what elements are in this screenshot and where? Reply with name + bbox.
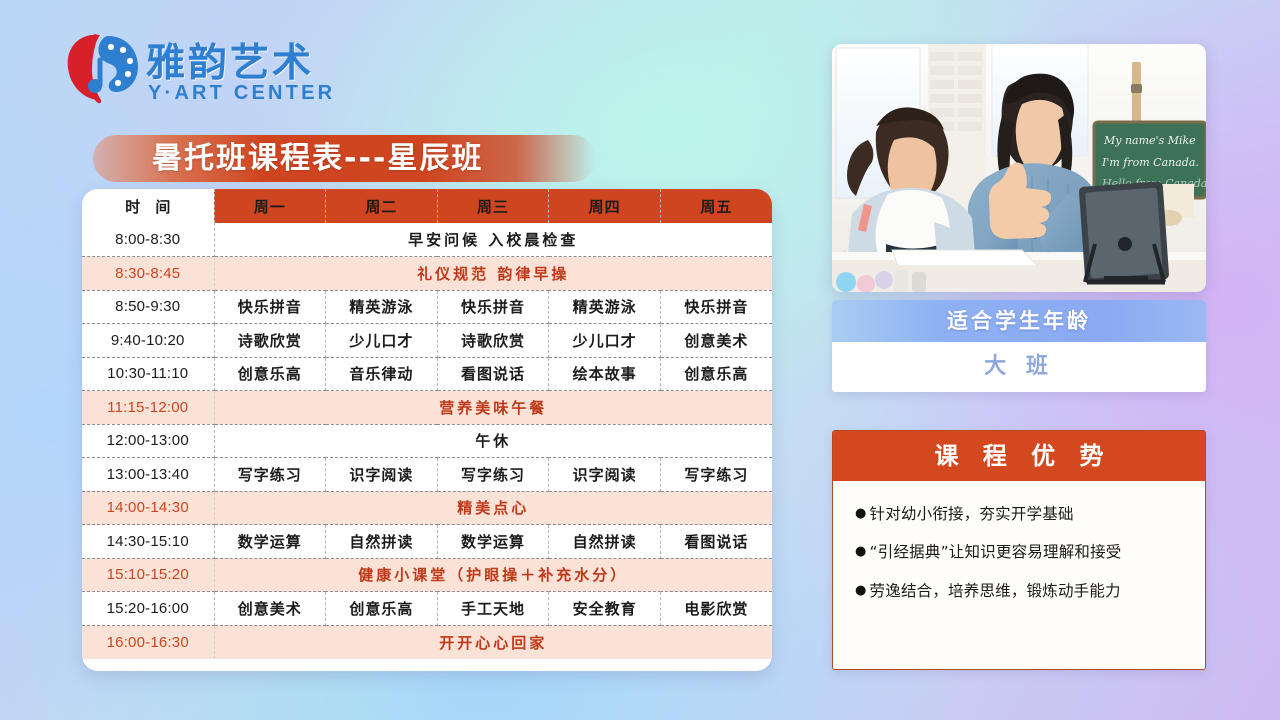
schedule-merged-cell: 精美点心 [214, 491, 772, 525]
schedule-time-cell: 8:30-8:45 [82, 257, 214, 291]
column-header-monday: 周一 [214, 189, 326, 223]
schedule-merged-cell: 礼仪规范 韵律早操 [214, 257, 772, 291]
table-row: 8:00-8:30早安问候 入校晨检查 [82, 223, 772, 257]
schedule-time-cell: 8:50-9:30 [82, 290, 214, 324]
column-header-tuesday: 周二 [326, 189, 438, 223]
schedule-subject-cell: 写字练习 [437, 458, 549, 492]
schedule-merged-cell: 开开心心回家 [214, 625, 772, 659]
age-panel: 适合学生年龄 大 班 [832, 300, 1206, 392]
schedule-table: 时 间 周一 周二 周三 周四 周五 8:00-8:30早安问候 入校晨检查8:… [82, 189, 772, 659]
schedule-subject-cell: 自然拼读 [326, 525, 438, 559]
schedule-merged-cell: 营养美味午餐 [214, 391, 772, 425]
schedule-subject-cell: 创意乐高 [214, 357, 326, 391]
svg-text:My name's Mike: My name's Mike [1103, 134, 1196, 147]
brand-name-cn: 雅韵艺术 [146, 32, 314, 88]
advantages-list: ●针对幼小衔接，夯实开学基础●“引经据典”让知识更容易理解和接受●劳逸结合，培养… [833, 481, 1205, 601]
schedule-time-cell: 12:00-13:00 [82, 424, 214, 458]
schedule-subject-cell: 看图说话 [437, 357, 549, 391]
schedule-subject-cell: 快乐拼音 [660, 290, 772, 324]
bullet-icon: ● [855, 582, 867, 601]
list-item: ●“引经据典”让知识更容易理解和接受 [855, 543, 1185, 562]
schedule-subject-cell: 自然拼读 [549, 525, 661, 559]
list-item: ●劳逸结合，培养思维，锻炼动手能力 [855, 582, 1185, 601]
table-row: 11:15-12:00营养美味午餐 [82, 391, 772, 425]
column-header-wednesday: 周三 [437, 189, 549, 223]
brand-name-en: Y·ART CENTER [148, 82, 335, 105]
bullet-icon: ● [855, 543, 867, 562]
schedule-subject-cell: 手工天地 [437, 592, 549, 626]
svg-text:I'm from Canada.: I'm from Canada. [1101, 156, 1199, 169]
schedule-time-cell: 14:30-15:10 [82, 525, 214, 559]
list-item: ●针对幼小衔接，夯实开学基础 [855, 505, 1185, 524]
advantage-text: 劳逸结合，培养思维，锻炼动手能力 [870, 582, 1185, 601]
column-header-friday: 周五 [660, 189, 772, 223]
schedule-subject-cell: 看图说话 [660, 525, 772, 559]
table-row: 8:30-8:45礼仪规范 韵律早操 [82, 257, 772, 291]
schedule-subject-cell: 电影欣赏 [660, 592, 772, 626]
schedule-time-cell: 10:30-11:10 [82, 357, 214, 391]
table-row: 12:00-13:00午休 [82, 424, 772, 458]
age-panel-value: 大 班 [832, 342, 1206, 392]
classroom-teacher-student-photo: My name's Mike I'm from Canada. Hello fr… [832, 44, 1206, 292]
schedule-subject-cell: 少儿口才 [326, 324, 438, 358]
schedule-subject-cell: 创意美术 [660, 324, 772, 358]
table-row: 15:20-16:00创意美术创意乐高手工天地安全教育电影欣赏 [82, 592, 772, 626]
schedule-subject-cell: 音乐律动 [326, 357, 438, 391]
table-row: 8:50-9:30快乐拼音精英游泳快乐拼音精英游泳快乐拼音 [82, 290, 772, 324]
schedule-subject-cell: 少儿口才 [549, 324, 661, 358]
schedule-subject-cell: 数学运算 [214, 525, 326, 559]
bullet-icon: ● [855, 505, 867, 524]
schedule-time-cell: 15:10-15:20 [82, 558, 214, 592]
schedule-subject-cell: 识字阅读 [326, 458, 438, 492]
column-header-time: 时 间 [82, 189, 214, 223]
schedule-merged-cell: 健康小课堂（护眼操＋补充水分） [214, 558, 772, 592]
tablet-stand [1079, 181, 1170, 285]
schedule-subject-cell: 快乐拼音 [214, 290, 326, 324]
page-title: 暑托班课程表---星辰班 [152, 138, 572, 180]
table-row: 10:30-11:10创意乐高音乐律动看图说话绘本故事创意乐高 [82, 357, 772, 391]
age-panel-heading: 适合学生年龄 [832, 300, 1206, 342]
schedule-time-cell: 8:00-8:30 [82, 223, 214, 257]
column-header-thursday: 周四 [549, 189, 661, 223]
schedule-merged-cell: 午休 [214, 424, 772, 458]
schedule-merged-cell: 早安问候 入校晨检查 [214, 223, 772, 257]
schedule-subject-cell: 创意美术 [214, 592, 326, 626]
schedule-subject-cell: 诗歌欣赏 [214, 324, 326, 358]
table-row: 13:00-13:40写字练习识字阅读写字练习识字阅读写字练习 [82, 458, 772, 492]
schedule-subject-cell: 识字阅读 [549, 458, 661, 492]
table-row: 16:00-16:30开开心心回家 [82, 625, 772, 659]
table-row: 9:40-10:20诗歌欣赏少儿口才诗歌欣赏少儿口才创意美术 [82, 324, 772, 358]
schedule-time-cell: 11:15-12:00 [82, 391, 214, 425]
advantage-text: 针对幼小衔接，夯实开学基础 [870, 505, 1185, 524]
schedule-time-cell: 14:00-14:30 [82, 491, 214, 525]
advantage-text: “引经据典”让知识更容易理解和接受 [870, 543, 1185, 562]
schedule-subject-cell: 安全教育 [549, 592, 661, 626]
schedule-subject-cell: 创意乐高 [660, 357, 772, 391]
schedule-subject-cell: 绘本故事 [549, 357, 661, 391]
schedule-subject-cell: 精英游泳 [549, 290, 661, 324]
table-row: 15:10-15:20健康小课堂（护眼操＋补充水分） [82, 558, 772, 592]
schedule-subject-cell: 精英游泳 [326, 290, 438, 324]
brand-logo: 雅韵艺术 Y·ART CENTER [64, 26, 364, 116]
palette-music-note-logo-icon [64, 30, 142, 108]
schedule-subject-cell: 诗歌欣赏 [437, 324, 549, 358]
schedule-time-cell: 9:40-10:20 [82, 324, 214, 358]
schedule-subject-cell: 写字练习 [214, 458, 326, 492]
schedule-time-cell: 13:00-13:40 [82, 458, 214, 492]
schedule-subject-cell: 写字练习 [660, 458, 772, 492]
schedule-time-cell: 16:00-16:30 [82, 625, 214, 659]
course-advantages-panel: 课 程 优 势 ●针对幼小衔接，夯实开学基础●“引经据典”让知识更容易理解和接受… [832, 430, 1206, 670]
table-row: 14:00-14:30精美点心 [82, 491, 772, 525]
schedule-time-cell: 15:20-16:00 [82, 592, 214, 626]
schedule-subject-cell: 数学运算 [437, 525, 549, 559]
schedule-card: 时 间 周一 周二 周三 周四 周五 8:00-8:30早安问候 入校晨检查8:… [82, 189, 772, 671]
schedule-subject-cell: 创意乐高 [326, 592, 438, 626]
schedule-subject-cell: 快乐拼音 [437, 290, 549, 324]
advantages-heading: 课 程 优 势 [833, 431, 1205, 481]
schedule-table-head: 时 间 周一 周二 周三 周四 周五 [82, 189, 772, 223]
table-row: 14:30-15:10数学运算自然拼读数学运算自然拼读看图说话 [82, 525, 772, 559]
table-header-row: 时 间 周一 周二 周三 周四 周五 [82, 189, 772, 223]
schedule-table-body: 8:00-8:30早安问候 入校晨检查8:30-8:45礼仪规范 韵律早操8:5… [82, 223, 772, 659]
